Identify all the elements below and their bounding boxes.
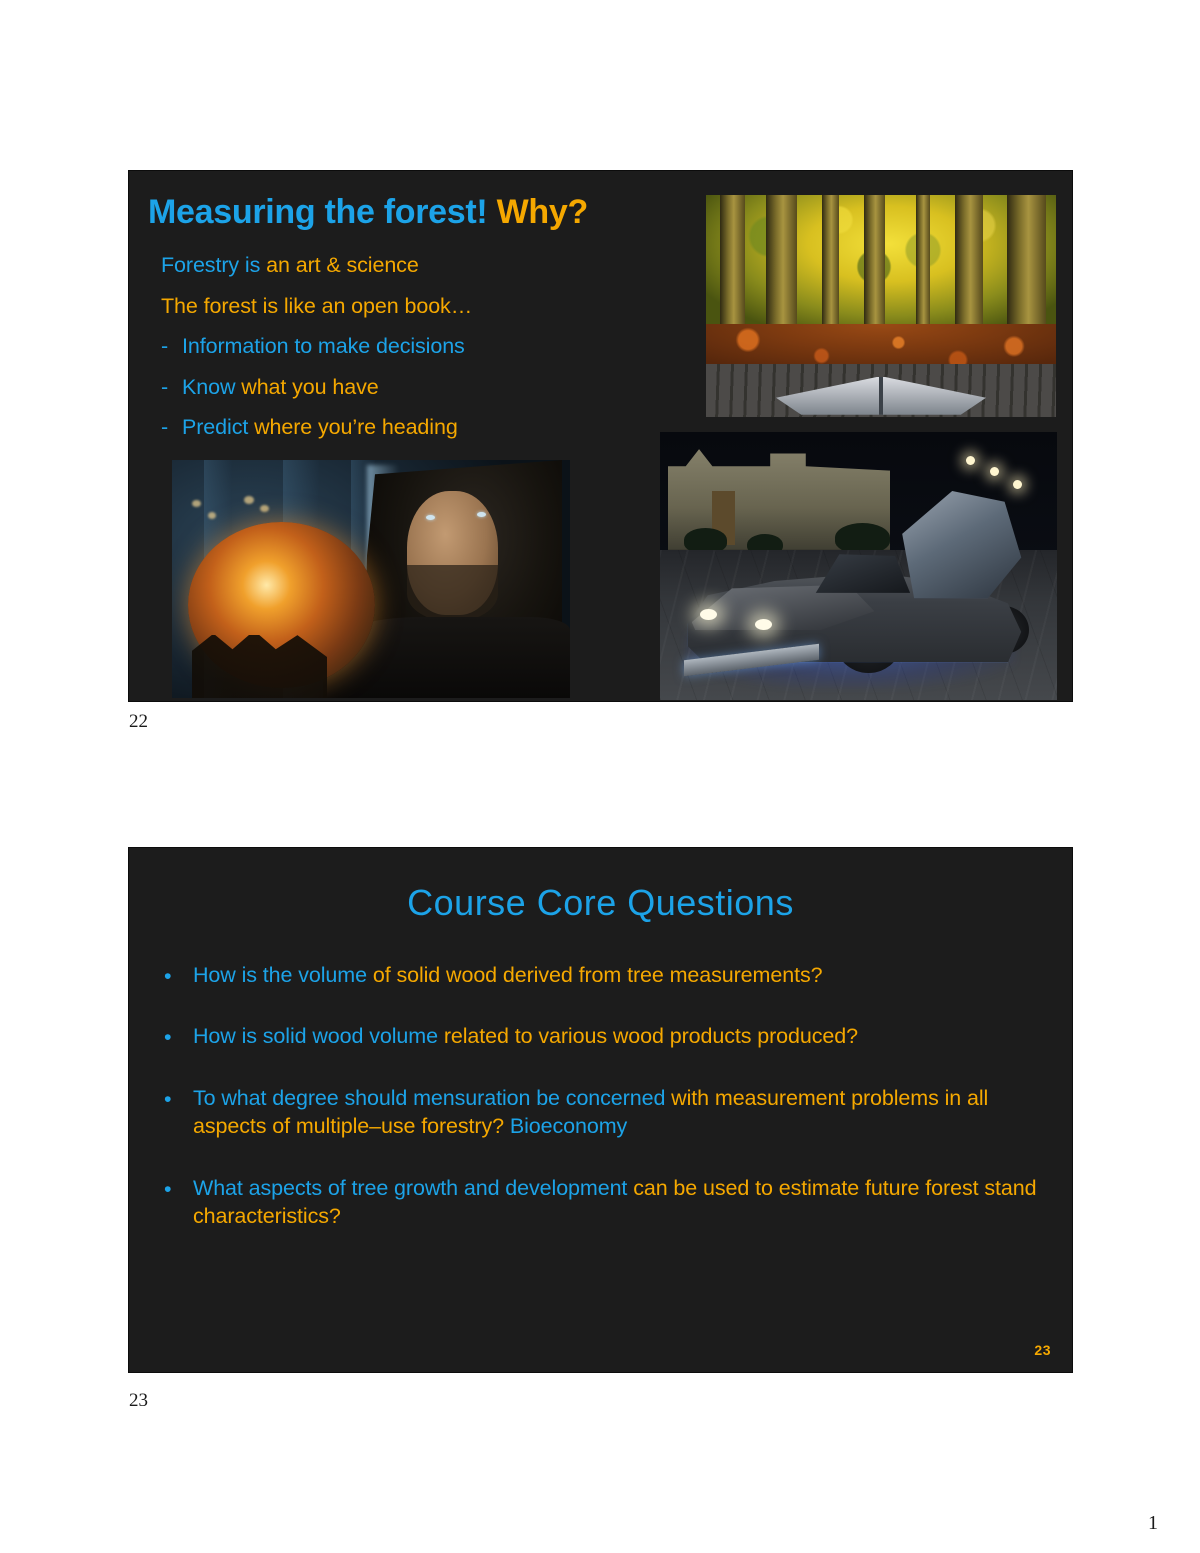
question-item-2: • How is solid wood volume related to va… [159,1022,1044,1050]
slide-2-slide-number: 23 [1034,1342,1051,1358]
dash-icon: - [161,336,168,358]
question-1-yellow: of solid wood derived from tree measurem… [373,963,823,987]
slide-2-body: • How is the volume of solid wood derive… [159,961,1044,1263]
bullet-icon: • [164,962,171,990]
slide-1-sub-3-yellow: where you’re heading [254,415,458,439]
street-lamp [966,456,975,465]
question-item-3: • To what degree should mensuration be c… [159,1084,1044,1141]
page-number: 1 [1148,1512,1158,1535]
question-2-yellow: related to various wood products produce… [444,1024,858,1048]
slide-1-line-2: The forest is like an open book… [161,296,721,318]
bullet-icon: • [164,1085,171,1113]
dash-icon: - [161,377,168,399]
slide-measuring-the-forest[interactable]: Measuring the forest! Why? Forestry is a… [129,171,1072,701]
forest-open-book-image [706,195,1056,417]
slide-2-title: Course Core Questions [129,882,1072,924]
slide-1-caption: 22 [129,711,148,733]
slide-1-body: Forestry is an art & science The forest … [161,255,721,458]
slide-1-line-1-blue: Forestry is [161,253,260,277]
dash-icon: - [161,417,168,439]
slide-1-title-yellow: Why? [497,193,588,231]
question-item-4: • What aspects of tree growth and develo… [159,1174,1044,1231]
crystal-ball-image [172,460,570,698]
question-4-blue: What aspects of tree growth and developm… [193,1176,627,1200]
eye-left [426,515,435,520]
bullet-icon: • [164,1175,171,1203]
slide-1-sub-bullet-3: - Predict where you’re heading [161,417,721,439]
slide-1-sub-1-blue: Information to make decisions [182,334,465,358]
slide-2-caption: 23 [129,1390,148,1412]
slide-1-sub-2-blue: Know [182,375,235,399]
slide-1-line-2-yellow: The forest is like an open book… [161,294,472,318]
slide-course-core-questions[interactable]: Course Core Questions • How is the volum… [129,848,1072,1372]
slide-1-title-blue: Measuring the forest! [148,193,487,231]
slide-1-title: Measuring the forest! Why? [148,195,588,229]
question-1-blue: How is the volume [193,963,367,987]
question-2-blue: How is solid wood volume [193,1024,438,1048]
slide-1-sub-3-blue: Predict [182,415,248,439]
man-beard [407,565,499,622]
slide-1-line-1-yellow: an art & science [266,253,419,277]
bullet-icon: • [164,1023,171,1051]
slide-1-sub-2-yellow: what you have [241,375,378,399]
slide-1-sub-bullet-1: - Information to make decisions [161,336,721,358]
street-lamp [990,467,999,476]
document-page: Measuring the forest! Why? Forestry is a… [0,0,1200,1553]
question-3-blue: To what degree should mensuration be con… [193,1086,665,1110]
delorean-car-image [660,432,1057,700]
question-3-blue-tail: Bioeconomy [510,1114,627,1138]
headlight-left [700,609,717,620]
slide-1-line-1: Forestry is an art & science [161,255,721,277]
slide-1-sub-bullet-2: - Know what you have [161,377,721,399]
question-item-1: • How is the volume of solid wood derive… [159,961,1044,989]
